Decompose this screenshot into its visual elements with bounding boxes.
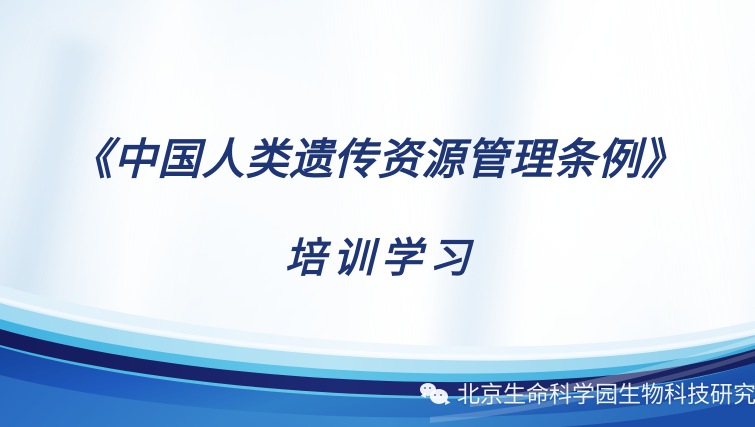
title-slide: 《中国人类遗传资源管理条例》 培训学习 北京生命科学园生物科技研究院: [0, 0, 755, 427]
page-subtitle: 培训学习: [0, 238, 755, 279]
wechat-icon: [420, 382, 450, 406]
page-title: 《中国人类遗传资源管理条例》: [0, 139, 755, 182]
wechat-watermark: 北京生命科学园生物科技研究院: [420, 382, 755, 406]
wechat-account-name: 北京生命科学园生物科技研究院: [457, 383, 755, 406]
